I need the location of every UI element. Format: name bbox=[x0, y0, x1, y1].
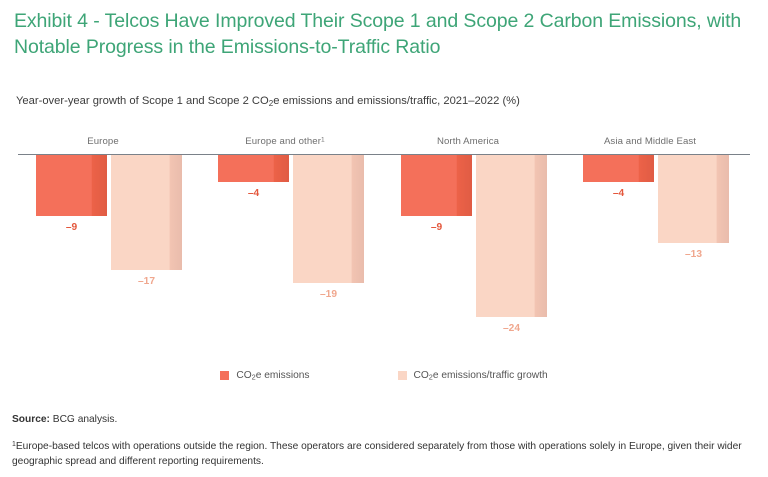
legend-item-co2e-emissions[interactable]: CO2e emissions bbox=[220, 370, 309, 382]
legend-subscript: 2 bbox=[429, 373, 433, 382]
legend-label: CO2e emissions bbox=[236, 370, 309, 382]
category-label: Europe bbox=[18, 136, 188, 147]
bar-co2e-emissions-traffic-growth-1[interactable]: –17 bbox=[111, 155, 182, 270]
legend-item-co2e-emissions-traffic-growth[interactable]: CO2e emissions/traffic growth bbox=[398, 370, 548, 382]
bar-rect bbox=[401, 155, 472, 216]
bar-rect bbox=[476, 155, 547, 317]
legend-swatch-icon bbox=[398, 371, 407, 380]
legend-label: CO2e emissions/traffic growth bbox=[414, 370, 548, 382]
footnote: 1Europe-based telcos with operations out… bbox=[12, 437, 756, 469]
bar-rect bbox=[111, 155, 182, 270]
bar-value-label: –17 bbox=[111, 276, 182, 287]
bar-value-label: –4 bbox=[218, 188, 289, 199]
legend-swatch-icon bbox=[220, 371, 229, 380]
chart-legend: CO2e emissionsCO2e emissions/traffic gro… bbox=[0, 370, 768, 382]
bar-co2e-emissions-3[interactable]: –9 bbox=[401, 155, 472, 216]
bar-co2e-emissions-traffic-growth-4[interactable]: –13 bbox=[658, 155, 729, 243]
bar-rect bbox=[293, 155, 364, 283]
legend-subscript: 2 bbox=[252, 373, 256, 382]
bar-rect bbox=[218, 155, 289, 182]
bar-value-label: –9 bbox=[401, 222, 472, 233]
bar-group-3: North America–9–24 bbox=[383, 0, 553, 360]
bar-group-4: Asia and Middle East–4–13 bbox=[565, 0, 735, 360]
bar-chart-plot: Europe–9–17Europe and other1–4–19North A… bbox=[0, 0, 768, 360]
bar-rect bbox=[36, 155, 107, 216]
bar-group-1: Europe–9–17 bbox=[18, 0, 188, 360]
bar-co2e-emissions-4[interactable]: –4 bbox=[583, 155, 654, 182]
bar-co2e-emissions-2[interactable]: –4 bbox=[218, 155, 289, 182]
source-text: BCG analysis. bbox=[53, 414, 118, 425]
bar-value-label: –19 bbox=[293, 289, 364, 300]
bar-value-label: –4 bbox=[583, 188, 654, 199]
bar-co2e-emissions-traffic-growth-2[interactable]: –19 bbox=[293, 155, 364, 283]
bar-group-2: Europe and other1–4–19 bbox=[200, 0, 370, 360]
bar-rect bbox=[658, 155, 729, 243]
bar-co2e-emissions-1[interactable]: –9 bbox=[36, 155, 107, 216]
chart-footer: Source: BCG analysis. 1Europe-based telc… bbox=[12, 414, 756, 469]
source-label: Source: bbox=[12, 414, 50, 425]
source-line: Source: BCG analysis. bbox=[12, 414, 756, 425]
category-label: North America bbox=[383, 136, 553, 147]
category-label: Asia and Middle East bbox=[565, 136, 735, 147]
bar-co2e-emissions-traffic-growth-3[interactable]: –24 bbox=[476, 155, 547, 317]
category-footnote-marker: 1 bbox=[321, 136, 325, 143]
bar-value-label: –24 bbox=[476, 323, 547, 334]
bar-rect bbox=[583, 155, 654, 182]
bar-value-label: –9 bbox=[36, 222, 107, 233]
bar-value-label: –13 bbox=[658, 249, 729, 260]
footnote-text: Europe-based telcos with operations outs… bbox=[12, 441, 742, 467]
category-label: Europe and other1 bbox=[200, 136, 370, 147]
